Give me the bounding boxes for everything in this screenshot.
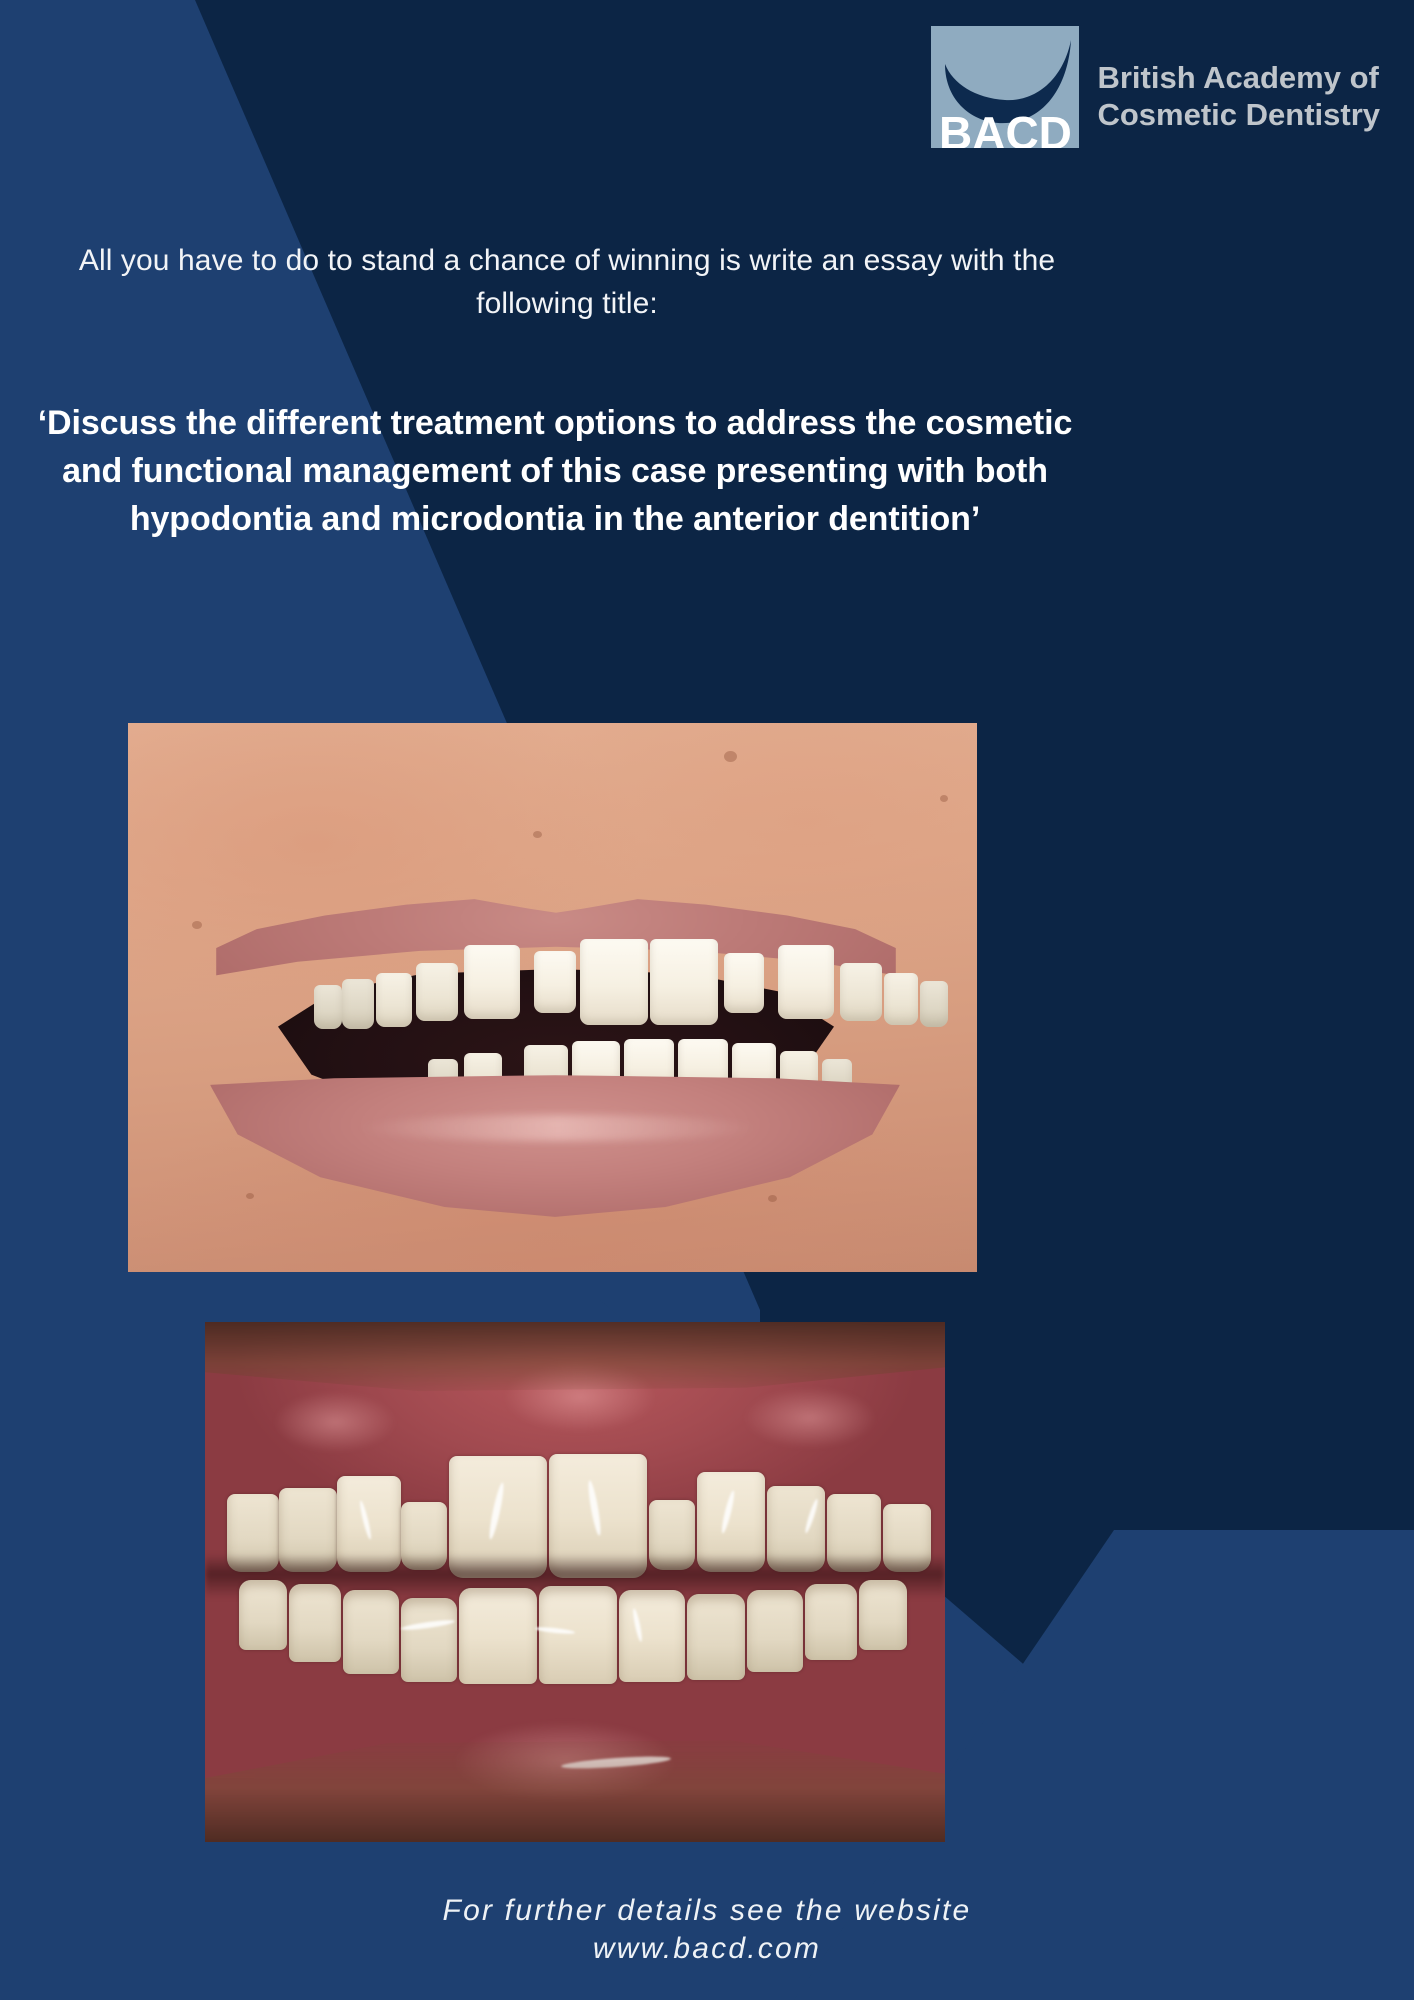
- essay-title: ‘Discuss the different treatment options…: [10, 400, 1100, 544]
- lower-lip-highlight: [358, 1115, 758, 1141]
- footer-website-url[interactable]: www.bacd.com: [0, 1930, 1414, 1968]
- organisation-name-line2: Cosmetic Dentistry: [1097, 97, 1380, 134]
- brand-logo: BACD British Academy of Cosmetic Dentist…: [931, 26, 1380, 148]
- extraoral-smile-photo: [128, 723, 977, 1272]
- intro-paragraph: All you have to do to stand a chance of …: [56, 240, 1078, 325]
- intraoral-retracted-photo: [205, 1322, 945, 1842]
- poster-root: BACD British Academy of Cosmetic Dentist…: [0, 0, 1414, 2000]
- footer-website-note: For further details see the website www.…: [0, 1892, 1414, 1969]
- organisation-name-line1: British Academy of: [1097, 60, 1380, 97]
- organisation-name: British Academy of Cosmetic Dentistry: [1097, 26, 1380, 133]
- bacd-logo-panel: BACD: [931, 26, 1079, 148]
- footer-line-1: For further details see the website: [443, 1894, 972, 1927]
- bacd-acronym: BACD: [931, 110, 1079, 148]
